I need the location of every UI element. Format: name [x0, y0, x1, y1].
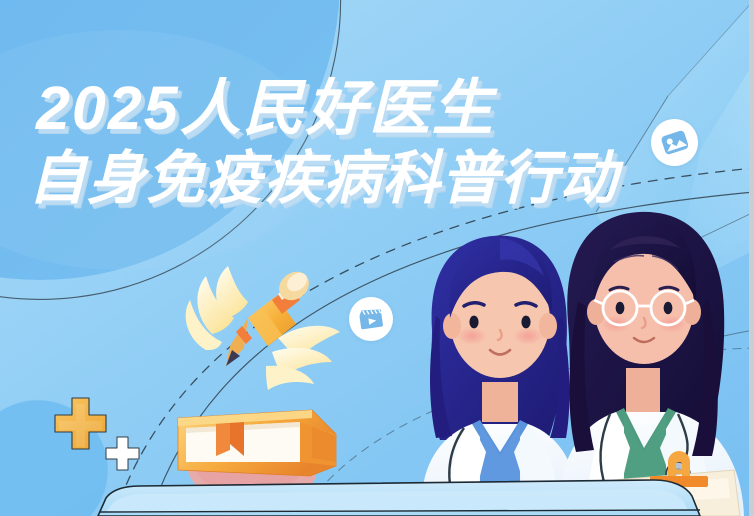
image-badge[interactable]	[651, 119, 698, 166]
plus-small-icon	[106, 437, 139, 470]
winged-pencil-illustration	[186, 266, 340, 390]
book-illustration	[178, 410, 336, 476]
poster-banner: 2025人民好医生 自身免疫疾病科普行动	[0, 0, 754, 516]
image-icon	[660, 128, 690, 158]
foreground-illustration	[0, 0, 754, 516]
desk-illustration	[98, 480, 700, 516]
doctor-right-illustration	[560, 212, 744, 516]
video-icon	[357, 305, 385, 333]
doctor-left-illustration	[421, 236, 578, 516]
video-badge[interactable]	[349, 297, 393, 341]
plus-large-icon	[55, 398, 106, 449]
